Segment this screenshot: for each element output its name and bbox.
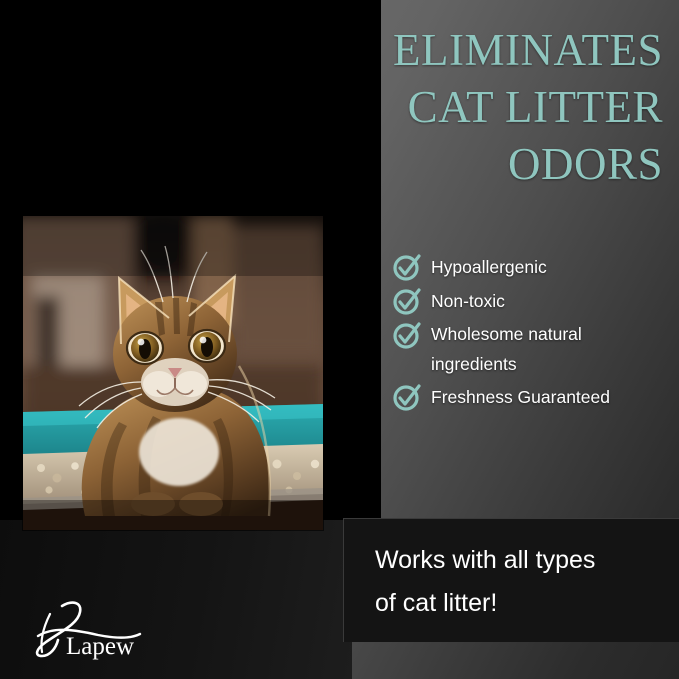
logo-mark-and-wordmark: Lapew — [20, 596, 200, 662]
headline: ELIMINATES CAT LITTER ODORS — [243, 22, 663, 193]
benefit-label: Wholesome natural ingredients — [431, 319, 672, 379]
benefits-list: Hypoallergenic Non-toxic Wholesome natur… — [392, 251, 672, 415]
benefit-item: Hypoallergenic — [392, 251, 672, 283]
benefit-item: Freshness Guaranteed — [392, 381, 672, 413]
check-circle-icon — [392, 382, 422, 412]
kitten-photo-illustration — [23, 216, 323, 530]
brand-logo: Lapew — [20, 596, 200, 662]
headline-line-3: ODORS — [243, 136, 663, 193]
kitten-litter-box-photo — [23, 216, 323, 530]
check-circle-icon — [392, 252, 422, 282]
promo-line-1: Works with all types — [375, 539, 675, 582]
brand-name: Lapew — [66, 633, 134, 660]
benefit-item: Non-toxic — [392, 285, 672, 317]
headline-line-1: ELIMINATES — [243, 22, 663, 79]
benefit-label: Non-toxic — [431, 285, 505, 317]
product-ad-image: ELIMINATES CAT LITTER ODORS — [0, 0, 679, 679]
benefit-label: Hypoallergenic — [431, 251, 547, 283]
promo-line-2: of cat litter! — [375, 582, 675, 625]
benefit-label: Freshness Guaranteed — [431, 381, 610, 413]
benefit-item: Wholesome natural ingredients — [392, 319, 672, 379]
check-circle-icon — [392, 320, 422, 350]
headline-line-2: CAT LITTER — [243, 79, 663, 136]
promo-callout-box: Works with all types of cat litter! — [343, 518, 679, 642]
check-circle-icon — [392, 286, 422, 316]
promo-text: Works with all types of cat litter! — [375, 539, 675, 625]
